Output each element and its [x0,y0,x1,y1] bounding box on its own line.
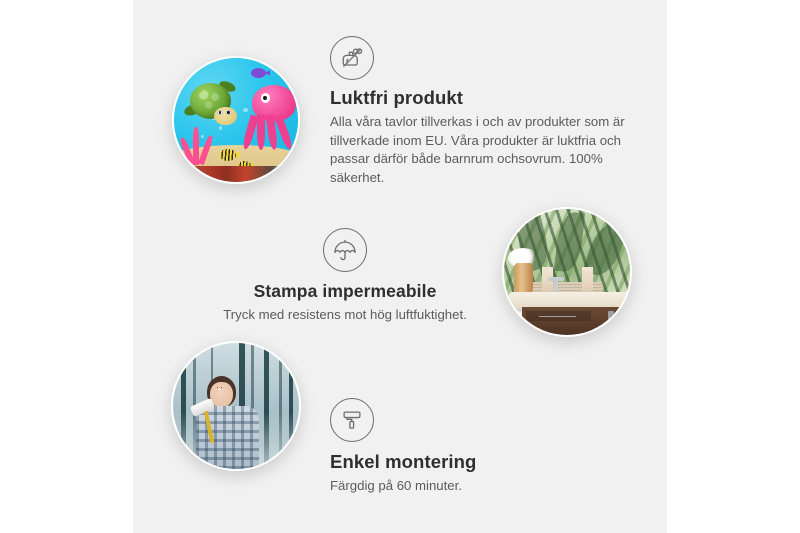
underwater-cartoon-photo [172,56,300,184]
icon-wrap [200,228,490,272]
turtle-icon [186,83,243,133]
feature-body: Färgdig på 60 minuter. [330,477,610,496]
promo-infographic: Luktfri produkt Alla våra tavlor tillver… [0,0,800,533]
vanity-cabinet [522,307,630,335]
no-fragrance-icon [330,36,374,80]
icon-wrap [330,398,610,442]
fish-icon [251,68,266,78]
countertop [509,292,630,308]
paint-roller-icon [330,398,374,442]
feature-body: Tryck med resistens mot hög luftfuktighe… [200,306,490,325]
feature-title: Luktfri produkt [330,87,630,109]
feature-mounting: Enkel montering Färgdig på 60 minuter. [330,398,610,496]
faucet-icon [554,277,558,293]
woman-figure [196,376,259,469]
fish-icon [220,149,236,161]
octopus-icon [243,85,295,149]
woman-with-roller-forest-photo [171,341,301,471]
feature-title: Enkel montering [330,451,610,473]
feature-title: Stampa impermeabile [200,281,490,302]
feature-body: Alla våra tavlor tillverkas i och av pro… [330,113,630,188]
coral-icon [181,127,216,164]
photo-bottom-strip [174,166,298,182]
feature-waterproof: Stampa impermeabile Tryck med resistens … [200,228,490,325]
umbrella-icon [323,228,367,272]
icon-wrap [330,36,630,80]
feature-odourless: Luktfri produkt Alla våra tavlor tillver… [330,36,630,188]
bathroom-tropical-wallpaper-photo [502,207,632,337]
